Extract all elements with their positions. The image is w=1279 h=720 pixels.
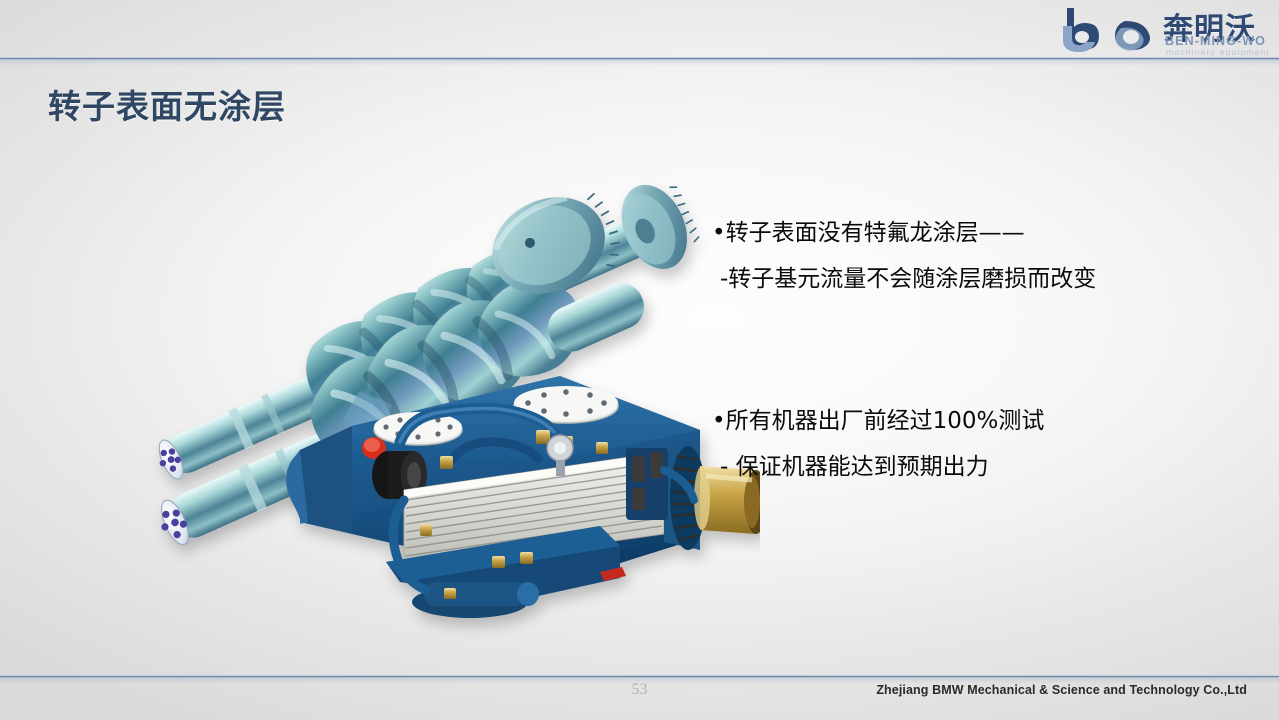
header-divider-glow — [0, 60, 1279, 66]
bullet-subline-1: -转子基元流量不会随涂层磨损而改变 — [712, 256, 1252, 302]
footer-company-name: Zhejiang BMW Mechanical & Science and Te… — [876, 683, 1247, 697]
bullet-line-1: •转子表面没有特氟龙涂层—— — [712, 210, 1252, 256]
product-illustration — [0, 130, 760, 650]
logo-latin-name: BEN-MING-WO — [1165, 34, 1266, 48]
bullet-paragraph-2: •所有机器出厂前经过100%测试 - 保证机器能达到预期出力 — [712, 398, 1252, 490]
logo-tagline: machinery equipment — [1166, 47, 1270, 57]
slide-title: 转子表面无涂层 — [48, 80, 286, 128]
bullet-content: •转子表面没有特氟龙涂层—— -转子基元流量不会随涂层磨损而改变 •所有机器出厂… — [712, 210, 1252, 490]
bullet-paragraph-1: •转子表面没有特氟龙涂层—— -转子基元流量不会随涂层磨损而改变 — [712, 210, 1252, 302]
bullet-line-2: •所有机器出厂前经过100%测试 — [712, 398, 1252, 444]
bo-monogram-icon — [1061, 6, 1165, 52]
company-logo: 奔明沃 BEN-MING-WO machinery equipment — [1059, 2, 1271, 56]
slide-canvas: 奔明沃 BEN-MING-WO machinery equipment 转子表面… — [0, 0, 1279, 720]
bullet-subline-2: - 保证机器能达到预期出力 — [712, 444, 1252, 490]
